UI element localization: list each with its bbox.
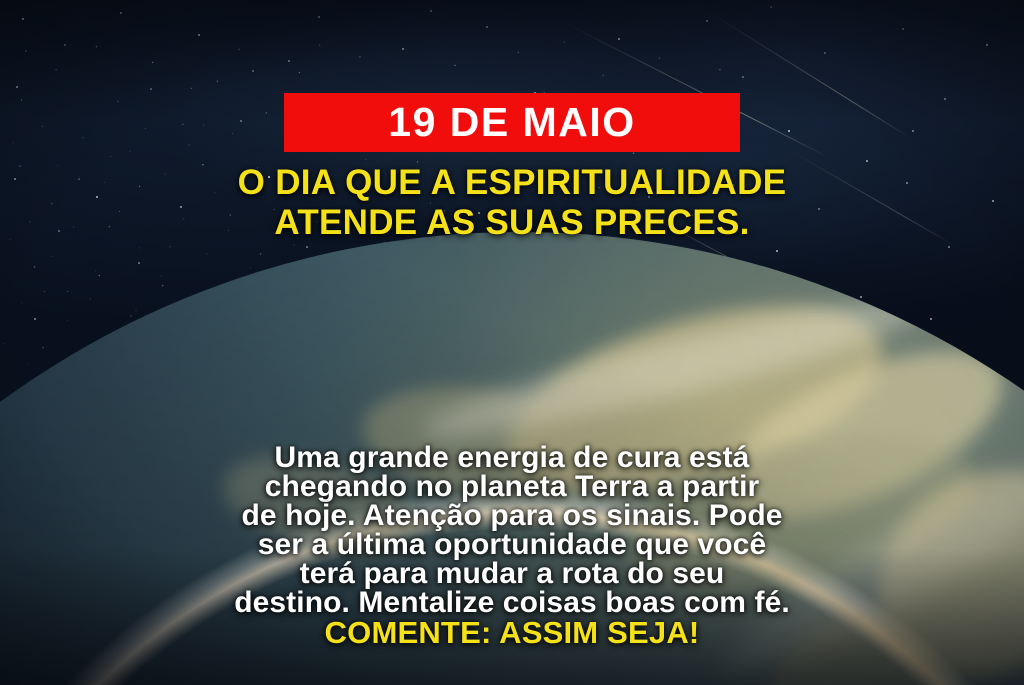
date-banner-label: 19 DE MAIO (388, 102, 635, 143)
body-copy: Uma grande energia de cura está chegando… (0, 443, 1024, 617)
headline: O DIA QUE A ESPIRITUALIDADE ATENDE AS SU… (0, 163, 1024, 243)
date-banner: 19 DE MAIO (284, 93, 740, 152)
call-to-action-label: COMENTE: ASSIM SEJA! (325, 615, 700, 650)
call-to-action: COMENTE: ASSIM SEJA! (0, 615, 1024, 651)
headline-line-2: ATENDE AS SUAS PRECES. (0, 203, 1024, 243)
body-copy-line-4: ser a última oportunidade que você (0, 530, 1024, 559)
body-copy-line-5: terá para mudar a rota do seu (0, 559, 1024, 588)
body-copy-line-2: chegando no planeta Terra a partir (0, 472, 1024, 501)
body-copy-line-1: Uma grande energia de cura está (0, 443, 1024, 472)
headline-line-1: O DIA QUE A ESPIRITUALIDADE (0, 163, 1024, 203)
body-copy-line-6: destino. Mentalize coisas boas com fé. (0, 588, 1024, 617)
body-copy-line-3: de hoje. Atenção para os sinais. Pode (0, 501, 1024, 530)
poster-content: 19 DE MAIO O DIA QUE A ESPIRITUALIDADE A… (0, 0, 1024, 685)
poster-canvas: 19 DE MAIO O DIA QUE A ESPIRITUALIDADE A… (0, 0, 1024, 685)
